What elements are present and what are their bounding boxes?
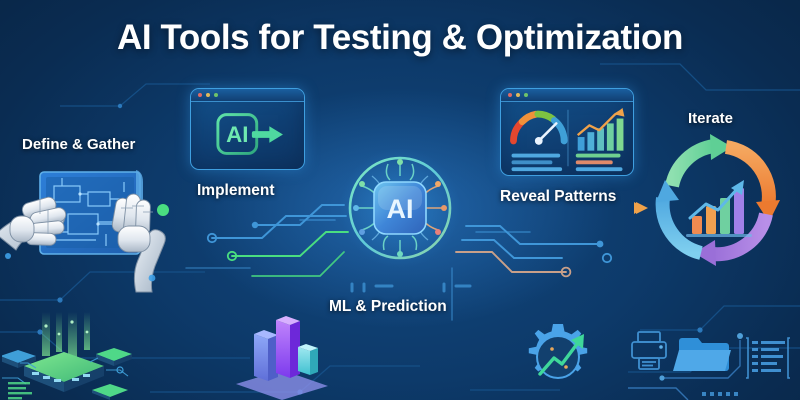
window-dot-red [198, 93, 202, 97]
bar-chart-icon [578, 108, 625, 151]
stage-label-define: Define & Gather [22, 136, 135, 153]
documents-group [628, 322, 800, 400]
printer-icon [632, 332, 666, 369]
implement-window[interactable]: AI [190, 88, 305, 170]
cycle-arrow-top [672, 134, 732, 186]
window-titlebar [191, 89, 304, 102]
gauge-icon [513, 114, 564, 145]
stage-label-iterate: Iterate [688, 110, 733, 127]
window-dot-amber [206, 93, 210, 97]
ai-brain-chip-icon[interactable]: AI [338, 146, 462, 270]
window-dot-red [508, 93, 512, 97]
ai-badge-arrow-graphic: AI [191, 102, 304, 169]
stage-label-ml: ML & Prediction [329, 298, 447, 316]
dashboard-graphic [501, 102, 633, 175]
svg-text:AI: AI [226, 122, 248, 147]
dashboard-titlebar [501, 89, 633, 102]
stage-label-reveal: Reveal Patterns [500, 188, 616, 206]
window-dot-green [524, 93, 528, 97]
document-list-icon [746, 338, 790, 378]
stage-label-implement: Implement [197, 182, 275, 200]
robot-hands-tablet-icon [0, 160, 186, 300]
window-dot-green [214, 93, 218, 97]
dashboard-window[interactable] [500, 88, 634, 176]
isometric-server-chip-icon [2, 312, 138, 400]
cycle-arrows-chart-icon[interactable] [648, 130, 790, 272]
isometric-bar-chart-icon [228, 312, 336, 400]
dashboard-right-rows [576, 154, 623, 172]
inner-growth-chart [686, 180, 752, 237]
page-title: AI Tools for Testing & Optimization [0, 18, 800, 58]
folder-icon [673, 338, 731, 371]
dashboard-left-rows [512, 154, 563, 172]
window-dot-amber [516, 93, 520, 97]
chip-label: AI [387, 194, 414, 224]
gear-growth-icon [508, 318, 608, 396]
